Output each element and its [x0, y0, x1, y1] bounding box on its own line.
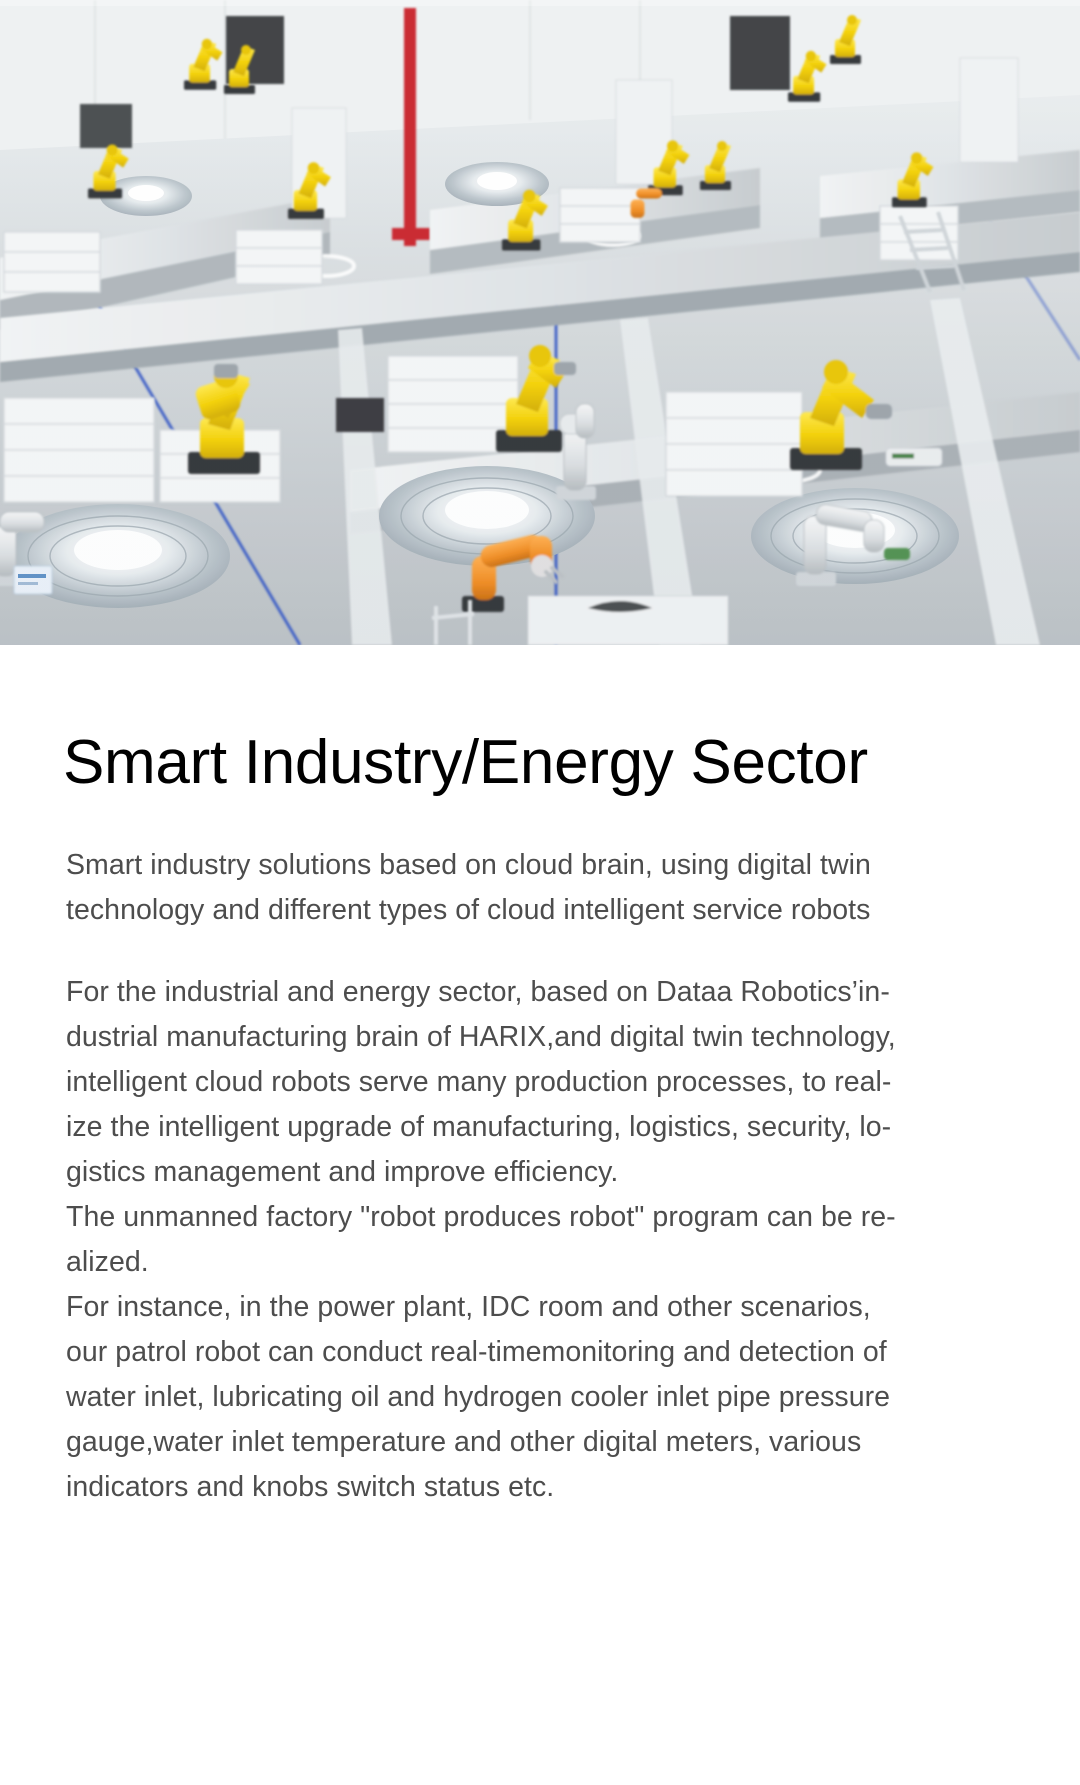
body-line: The unmanned factory "robot produces rob…: [66, 1195, 896, 1240]
body-line: gauge,water inlet temperature and other …: [66, 1420, 896, 1465]
body-line: water inlet, lubricating oil and hydroge…: [66, 1375, 896, 1420]
factory-robot-arms-image: [0, 0, 1080, 645]
body-line: our patrol robot can conduct real-timemo…: [66, 1330, 896, 1375]
hero-image: [0, 0, 1080, 645]
body-line: For the industrial and energy sector, ba…: [66, 970, 896, 1015]
lead-line: technology and different types of cloud …: [66, 888, 896, 933]
body-line: alized.: [66, 1240, 896, 1285]
body-line: For instance, in the power plant, IDC ro…: [66, 1285, 896, 1330]
lead-paragraph: Smart industry solutions based on cloud …: [66, 843, 896, 933]
page-root: Smart Industry/Energy Sector Smart indus…: [0, 0, 1080, 1785]
body-copy: Smart industry solutions based on cloud …: [66, 843, 896, 1510]
body-line: intelligent cloud robots serve many prod…: [66, 1060, 896, 1105]
body-line: gistics management and improve efficienc…: [66, 1150, 896, 1195]
body-line: indicators and knobs switch status etc.: [66, 1465, 896, 1510]
body-paragraph: For the industrial and energy sector, ba…: [66, 970, 896, 1510]
page-title: Smart Industry/Energy Sector: [63, 727, 868, 799]
lead-line: Smart industry solutions based on cloud …: [66, 843, 896, 888]
body-line: dustrial manufacturing brain of HARIX,an…: [66, 1015, 896, 1060]
body-line: ize the intelligent upgrade of manufactu…: [66, 1105, 896, 1150]
